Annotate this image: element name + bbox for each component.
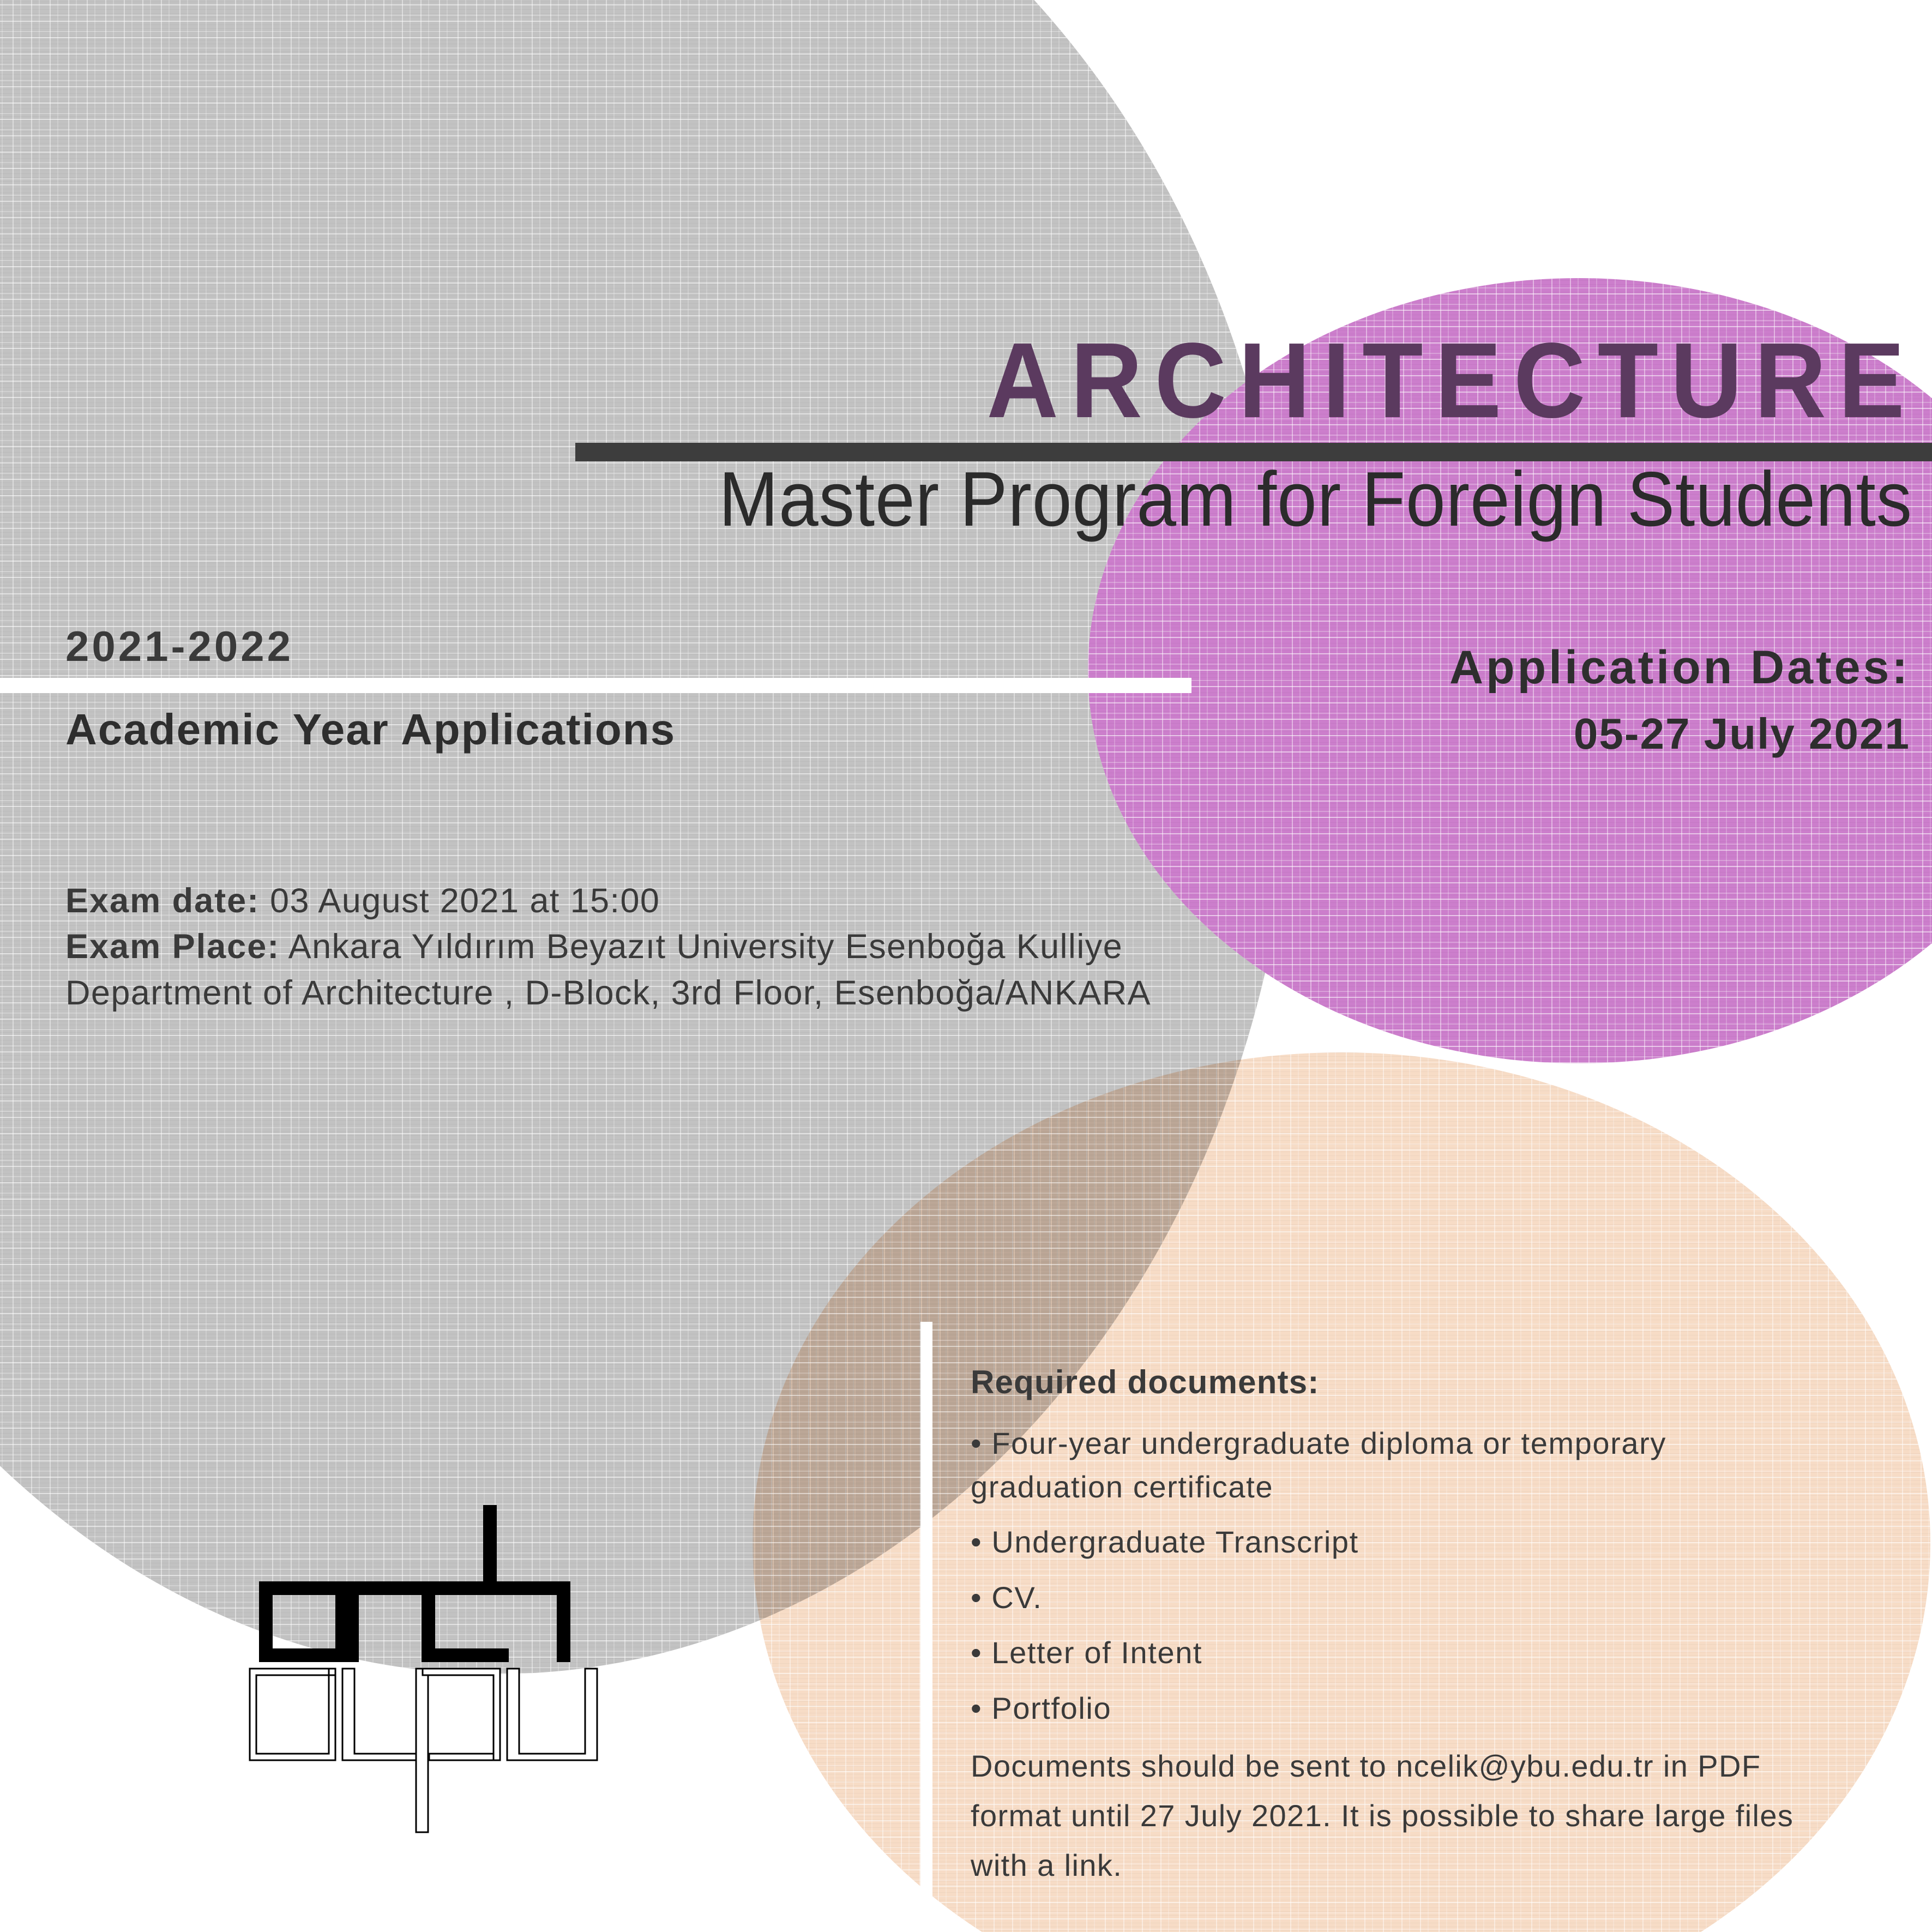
list-item: • Undergraduate Transcript: [971, 1520, 1821, 1564]
list-item: • CV.: [971, 1576, 1821, 1620]
logo-aybu-wordmark: [250, 1669, 597, 1832]
application-dates-value: 05-27 July 2021: [1574, 709, 1910, 759]
academic-year-applications-label: Academic Year Applications: [65, 705, 676, 755]
exam-place-value: Ankara Yıldırım Beyazıt University Esenb…: [280, 928, 1123, 966]
page-subtitle: Master Program for Foreign Students: [719, 461, 1912, 538]
submission-note: Documents should be sent to ncelik@ybu.e…: [971, 1742, 1821, 1890]
list-item: • Four-year undergraduate diploma or tem…: [971, 1422, 1821, 1508]
logo-arch-wordmark: [259, 1505, 570, 1662]
page-title: ARCHITECTURE: [986, 327, 1917, 434]
academic-year-range: 2021-2022: [65, 622, 293, 671]
arch-aybu-logo: [237, 1505, 608, 1887]
exam-info-block: Exam date: 03 August 2021 at 15:00 Exam …: [65, 878, 1374, 1016]
list-item: • Letter of Intent: [971, 1631, 1821, 1675]
exam-date-row: Exam date: 03 August 2021 at 15:00: [65, 878, 1374, 924]
logo-glyph-icon: [237, 1505, 608, 1887]
exam-date-label: Exam date:: [65, 882, 260, 920]
exam-place-row: Exam Place: Ankara Yıldırım Beyazıt Univ…: [65, 924, 1374, 970]
white-vertical-rule: [920, 1322, 932, 1932]
application-dates-label: Application Dates:: [1449, 641, 1910, 695]
poster-canvas: ARCHITECTURE Master Program for Foreign …: [0, 0, 1932, 1932]
exam-date-value: 03 August 2021 at 15:00: [260, 882, 660, 920]
exam-place-label: Exam Place:: [65, 928, 280, 966]
list-item: • Portfolio: [971, 1687, 1821, 1730]
required-documents-block: Required documents: • Four-year undergra…: [971, 1363, 1821, 1890]
exam-place-line2: Department of Architecture , D-Block, 3r…: [65, 970, 1374, 1016]
white-horizontal-rule: [0, 678, 1191, 693]
required-documents-title: Required documents:: [971, 1363, 1821, 1401]
